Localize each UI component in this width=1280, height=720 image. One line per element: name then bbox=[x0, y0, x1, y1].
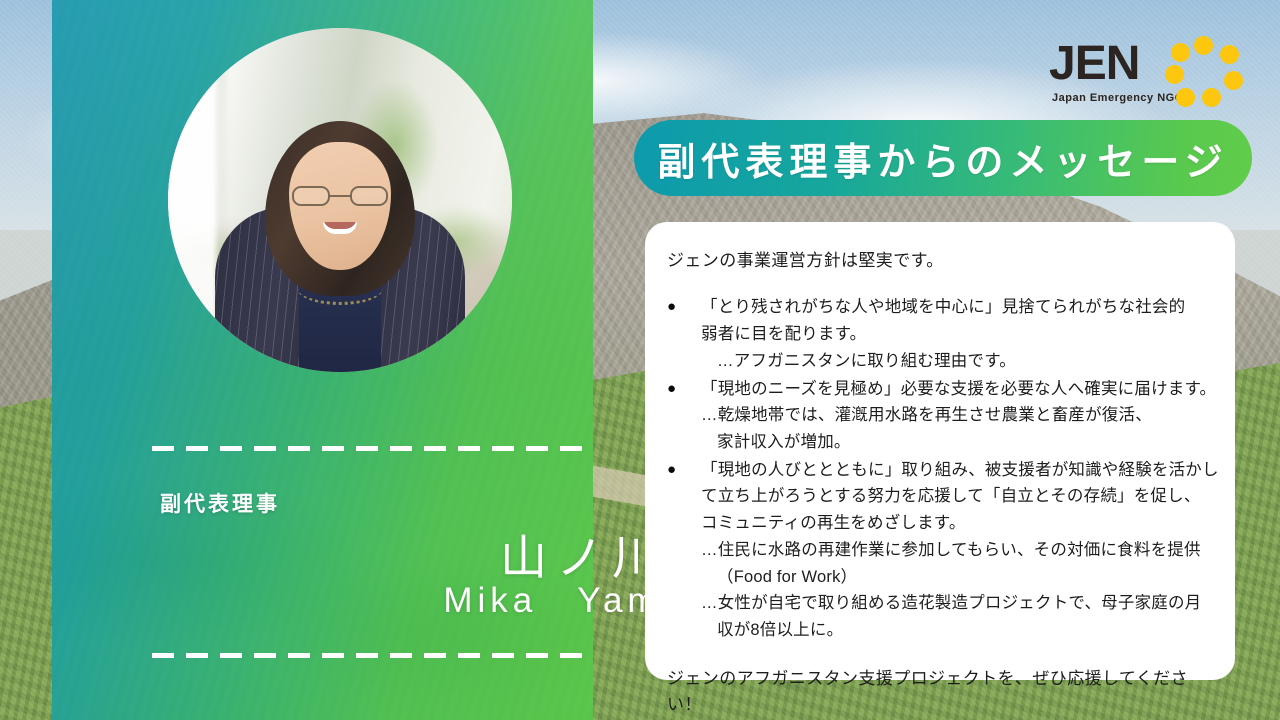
message-bullet-line: …アフガニスタンに取り組む理由です。 bbox=[693, 348, 1213, 375]
message-bullet-list: ●「とり残されがちな人や地域を中心に」見捨てられがちな社会的弱者に目を配ります。… bbox=[667, 294, 1213, 643]
page-title: 副代表理事からのメッセージ bbox=[657, 131, 1228, 186]
message-bullet-line: て立ち上がろうとする努力を応援して「自立とその存続」を促し、 bbox=[693, 483, 1219, 510]
bullet-marker-icon: ● bbox=[667, 376, 693, 456]
message-card: ジェンの事業運営方針は堅実です。 ●「とり残されがちな人や地域を中心に」見捨てら… bbox=[645, 222, 1235, 680]
avatar bbox=[168, 28, 512, 372]
profile-role: 副代表理事 bbox=[160, 488, 280, 518]
jen-logo: JEN Japan Emergency NGO bbox=[1049, 36, 1244, 108]
message-bullet-line: （Food for Work） bbox=[693, 564, 1219, 591]
message-bullet-line: 「とり残されがちな人や地域を中心に」見捨てられがちな社会的 bbox=[693, 294, 1213, 321]
message-bullet-line: 収が8倍以上に。 bbox=[693, 617, 1219, 644]
slide-root: 副代表理事 山ノ川実夏 Mika Yamanokawa JEN Japan Em… bbox=[0, 0, 1280, 720]
logo-wordmark: JEN bbox=[1049, 40, 1139, 88]
message-bullet-line: 家計収入が増加。 bbox=[693, 429, 1216, 456]
avatar-necklace bbox=[297, 271, 383, 305]
message-bullet-line: 「現地のニーズを見極め」必要な支援を必要な人へ確実に届けます。 bbox=[693, 376, 1216, 403]
message-bullet-line: 「現地の人びととともに」取り組み、被支援者が知識や経験を活かし bbox=[693, 457, 1219, 484]
message-bullet-line: 弱者に目を配ります。 bbox=[693, 321, 1213, 348]
message-bullet-item: ●「現地のニーズを見極め」必要な支援を必要な人へ確実に届けます。…乾燥地帯では、… bbox=[667, 376, 1213, 456]
message-bullet-text: 「現地の人びととともに」取り組み、被支援者が知識や経験を活かして立ち上がろうとす… bbox=[693, 457, 1219, 644]
divider-dashed-top bbox=[152, 446, 593, 451]
message-bullet-item: ●「とり残されがちな人や地域を中心に」見捨てられがちな社会的弱者に目を配ります。… bbox=[667, 294, 1213, 374]
message-bullet-text: 「とり残されがちな人や地域を中心に」見捨てられがちな社会的弱者に目を配ります。…… bbox=[693, 294, 1213, 374]
message-bullet-line: …乾燥地帯では、灌漑用水路を再生させ農業と畜産が復活、 bbox=[693, 402, 1216, 429]
message-bullet-item: ●「現地の人びととともに」取り組み、被支援者が知識や経験を活かして立ち上がろうと… bbox=[667, 457, 1213, 644]
message-bullet-line: …住民に水路の再建作業に参加してもらい、その対価に食料を提供 bbox=[693, 537, 1219, 564]
bullet-marker-icon: ● bbox=[667, 294, 693, 374]
bullet-marker-icon: ● bbox=[667, 457, 693, 644]
logo-dots-icon bbox=[1165, 36, 1243, 108]
message-bullet-line: コミュニティの再生をめざします。 bbox=[693, 510, 1219, 537]
message-bullet-line: …女性が自宅で取り組める造花製造プロジェクトで、母子家庭の月 bbox=[693, 590, 1219, 617]
message-outro: ジェンのアフガニスタン支援プロジェクトを、ぜひ応援してください！ bbox=[667, 666, 1213, 719]
divider-dashed-bottom bbox=[152, 653, 593, 658]
logo-tagline: Japan Emergency NGO bbox=[1052, 92, 1184, 104]
glasses-icon bbox=[292, 186, 388, 206]
title-banner: 副代表理事からのメッセージ bbox=[634, 120, 1252, 196]
message-intro: ジェンの事業運営方針は堅実です。 bbox=[667, 248, 1213, 274]
message-bullet-text: 「現地のニーズを見極め」必要な支援を必要な人へ確実に届けます。…乾燥地帯では、灌… bbox=[693, 376, 1216, 456]
